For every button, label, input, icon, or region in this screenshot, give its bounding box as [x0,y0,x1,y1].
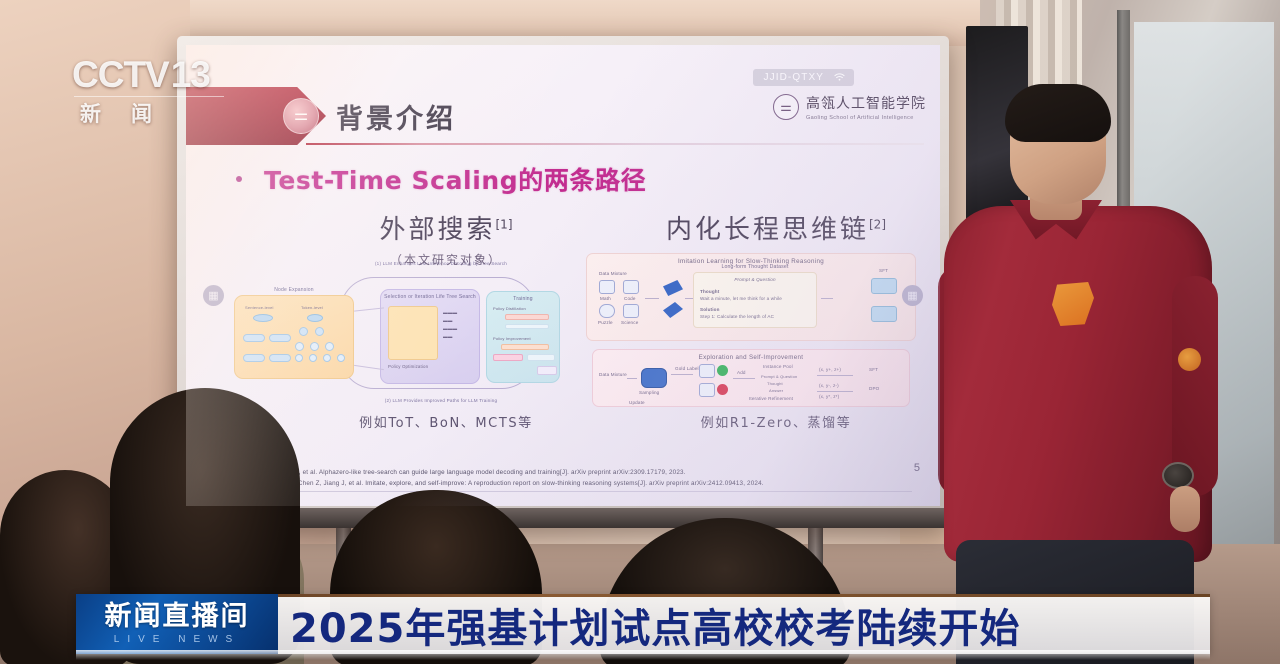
reject-icon [717,384,728,395]
panel-c-title: Training [487,296,559,302]
presentation-slide: JJID-QTXY ⚌ 背景介绍 ⚌ 高瓴人工智能学院 Gaoling Scho… [186,45,940,506]
model-icon [663,280,683,296]
solution-text: Step 1: Calculate the length of AC [700,314,774,319]
dataset-title: Long-form Thought Dataset [694,264,816,270]
arrow-icon [671,374,693,375]
sft-model-icon [871,278,897,294]
node-icon [295,354,303,362]
presenter-watch [1162,462,1194,489]
pool-answer: Answer [769,388,783,393]
slide-bullet: Test-Time Scaling的两条路径 [236,161,646,197]
title-divider [306,143,924,145]
news-headline: 2025年强基计划试点高校校考陆续开始 [290,596,1020,654]
figure-panel-tree-search: Selection or Iteration Life Tree Search … [380,289,480,384]
node-icon [307,314,323,322]
figure-internalized-cot: Imitation Learning for Slow-Thinking Rea… [586,253,916,408]
gold-label: Gold Label [675,366,699,371]
university-seal-icon: ⚌ [283,98,319,134]
node-icon [269,334,291,342]
update-label: Update [629,400,645,405]
training-bar [501,344,549,350]
panel-toggle-icon-right[interactable]: ▦ [902,285,923,306]
node-icon [269,354,291,362]
node-icon [299,327,308,336]
tuple-star: (x, y*, z*) [819,394,839,399]
divider [817,391,853,392]
pool-thought: Thought [767,381,783,386]
sampling-label: Sampling [639,390,659,395]
panel-a-sub-left: Sentence-level [245,305,274,310]
panel-b-sub: Policy Optimization [388,364,428,369]
panel-b-item: ▬▬▬ [443,310,457,315]
instance-pool-label: Instance Pool [763,364,793,369]
panel-a-sub-right: Token-level [301,305,323,310]
panel-b-item: ▬▬ [443,318,453,323]
channel-number: 13 [171,56,210,93]
tuple-positive: (x, y+, z+) [819,367,841,372]
school-seal-icon: ⚌ [773,94,799,120]
sft-model-icon [871,306,897,322]
pool-prompt: Prompt & Question [761,374,797,379]
device-name-label: JJID-QTXY [764,72,824,83]
tree-search-canvas [388,306,438,360]
node-icon [315,327,324,336]
training-bar [493,354,523,361]
divider [817,375,853,376]
node-icon [337,354,345,362]
sample-icon [699,383,715,397]
device-name-chip: JJID-QTXY [753,69,854,86]
figure-panel-training: Training Policy Distillation Policy Impr… [486,291,560,383]
node-icon [310,342,319,351]
presenter-hair [1005,84,1111,142]
thought-dataset-box: Long-form Thought Dataset Prompt & Quest… [693,272,817,328]
column-right-superscript: [2] [869,217,886,231]
column-left-superscript: [1] [496,217,513,231]
column-right-title: 内化长程思维链 [666,215,869,245]
bullet-dot-icon [236,176,242,182]
node-icon [243,334,265,342]
figure-external-search: (1) LLM Enhances LLM Inference Decoding … [228,267,562,391]
node-icon [243,354,265,362]
science-icon [623,304,639,318]
sft-label: SFT [869,367,878,372]
arrow-icon [627,378,637,379]
figure-arc-label-bottom: (2) LLM Provides Improved Paths for LLM … [346,398,536,405]
figure-caption-left: 例如ToT、BoN、MCTS等 [296,412,596,431]
training-bar [537,366,557,375]
add-label: Add [737,370,746,375]
panel-a-title: Node Expansion [235,287,353,293]
school-name-en: Gaoling School of Artificial Intelligenc… [806,115,926,121]
school-name-cn: 高瓴人工智能学院 [806,93,926,113]
tuple-negative: (x, y-, z-) [819,383,839,388]
training-bar [527,354,555,361]
node-icon [309,354,317,362]
node-icon [325,342,334,351]
prompt-question-label: Prompt & Question [694,277,816,282]
presenter-hand [1170,486,1200,532]
puzzle-icon [599,304,615,318]
math-icon [599,280,615,294]
dpo-label: DPO [869,386,879,391]
column-left-subtitle: （本文研究对象） [296,251,596,268]
training-bar [505,324,549,329]
reference-list: Wen M, et al. Alphazero-like tree-search… [278,467,912,492]
channel-logo-text: CCTV [72,56,169,93]
sampling-model-icon [641,368,667,388]
model-icon [663,302,683,318]
thought-label: Thought [700,289,719,294]
bullet-label: Test-Time Scaling的两条路径 [264,161,646,197]
sft-label: SFT [879,268,888,273]
lower-third-glow [76,650,1210,660]
math-label: Math [600,296,611,301]
program-name-cn: 新闻直播间 [105,603,250,630]
slide-page-number: 5 [914,462,920,474]
program-name-en: LIVE NEWS [114,634,240,645]
page-title: 背景介绍 [336,97,456,136]
panel-b-title: Selection or Iteration Life Tree Search [381,294,479,300]
node-icon [295,342,304,351]
lower-third: 新闻直播间 LIVE NEWS 2025年强基计划试点高校校考陆续开始 [0,594,1280,664]
panel-c-sub-a: Policy Distillation [493,306,526,311]
panel-c-sub-b: Policy Improvement [493,336,531,341]
puzzle-label: Puzzle [598,320,613,325]
code-label: Code [624,296,636,301]
node-icon [253,314,273,322]
imitation-learning-panel: Imitation Learning for Slow-Thinking Rea… [586,253,916,341]
reference-item: Min Y, Chen Z, Jiang J, et al. Imitate, … [278,478,912,489]
channel-sub-char-2: 闻 [131,98,152,128]
figure-caption-right: 例如R1-Zero、蒸馏等 [616,412,936,431]
sample-icon [699,364,715,378]
broadcast-frame: JJID-QTXY ⚌ 背景介绍 ⚌ 高瓴人工智能学院 Gaoling Scho… [0,0,1280,664]
panel-toggle-icon-left[interactable]: ▦ [203,285,224,306]
arrow-icon [733,378,755,379]
thought-text: Wait a minute, let me think for a while [700,296,782,301]
presenter-sleeve-badge [1178,348,1201,371]
reference-divider [278,491,912,492]
figure-panel-node-expansion: Node Expansion Sentence-level Token-leve… [234,295,354,379]
accept-icon [717,365,728,376]
arrow-icon [645,298,659,299]
wifi-icon [834,73,845,82]
arrow-icon [821,298,833,299]
node-icon [323,354,331,362]
code-icon [623,280,639,294]
panel-b-item: ▬▬ [443,334,453,339]
program-badge: 新闻直播间 LIVE NEWS [76,594,278,654]
channel-sub-char-1: 新 [80,98,101,128]
exploration-panel: Exploration and Self-Improvement Data Mi… [592,349,910,407]
science-label: Science [621,320,638,325]
reference-item: Wen M, et al. Alphazero-like tree-search… [278,467,912,478]
logo-divider [74,96,224,97]
column-left-title: 外部搜索 [379,215,495,245]
training-bar [505,314,549,320]
channel-logo: CCTV 13 新 闻 [72,56,210,128]
column-heading-left: 外部搜索[1] （本文研究对象） [296,209,596,268]
school-logo: ⚌ 高瓴人工智能学院 Gaoling School of Artificial … [773,93,926,121]
solution-label: Solution [700,307,720,312]
data-mixture-label: Data Mixture [599,271,627,276]
data-mixture-label: Data Mixture [599,372,627,377]
exploration-panel-title: Exploration and Self-Improvement [593,354,909,361]
panel-b-item: ▬▬▬ [443,326,457,331]
column-heading-right: 内化长程思维链[2] [616,209,936,246]
iterative-refinement-label: Iterative Refinement [749,396,793,401]
